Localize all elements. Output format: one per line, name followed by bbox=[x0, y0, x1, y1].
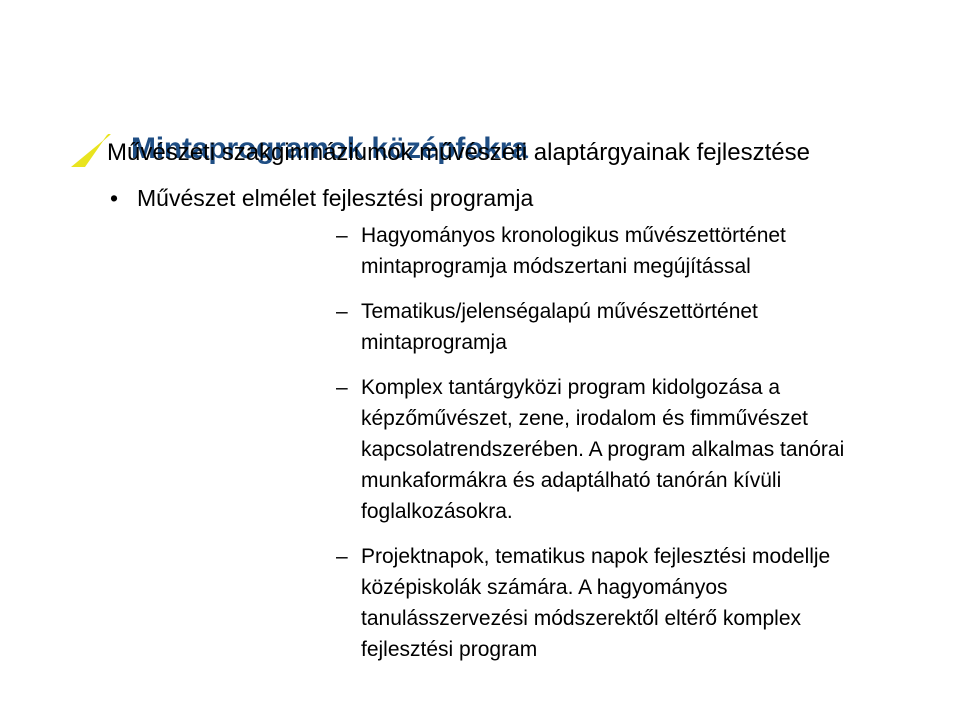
bullet-level1-text: Művészet elmélet fejlesztési programja bbox=[137, 185, 533, 211]
sub-bullet-item: – Projektnapok, tematikus napok fejleszt… bbox=[137, 541, 910, 665]
bullet-marker-dot: • bbox=[110, 180, 118, 216]
slide-body: Művészeti szakgimnáziumok művészeti alap… bbox=[0, 134, 960, 665]
sub-bullet-text: Hagyományos kronologikus művészettörténe… bbox=[361, 220, 868, 282]
sub-bullet-item: – Hagyományos kronologikus művészettörté… bbox=[137, 220, 910, 282]
bullet-marker-dash: – bbox=[336, 296, 348, 327]
bullet-list: • Művészet elmélet fejlesztési programja… bbox=[0, 180, 960, 665]
bullet-item-level1: • Művészet elmélet fejlesztési programja… bbox=[0, 180, 960, 665]
bullet-marker-dash: – bbox=[336, 220, 348, 251]
sub-bullet-text: Komplex tantárgyközi program kidolgozása… bbox=[361, 372, 868, 527]
bullet-marker-dash: – bbox=[336, 372, 348, 403]
sub-bullet-item: – Komplex tantárgyközi program kidolgozá… bbox=[137, 372, 910, 527]
slide-title-row: Mintaprogramok középfokra bbox=[0, 62, 960, 114]
intro-paragraph: Művészeti szakgimnáziumok művészeti alap… bbox=[0, 134, 917, 172]
sub-bullet-list: – Hagyományos kronologikus művészettörté… bbox=[137, 220, 910, 665]
sub-bullet-item: – Tematikus/jelenségalapú művészettörtén… bbox=[137, 296, 910, 358]
sub-bullet-text: Projektnapok, tematikus napok fejlesztés… bbox=[361, 541, 868, 665]
slide: Mintaprogramok középfokra Művészeti szak… bbox=[0, 0, 960, 720]
sub-bullet-text: Tematikus/jelenségalapú művészettörténet… bbox=[361, 296, 868, 358]
bullet-marker-dash: – bbox=[336, 541, 348, 572]
